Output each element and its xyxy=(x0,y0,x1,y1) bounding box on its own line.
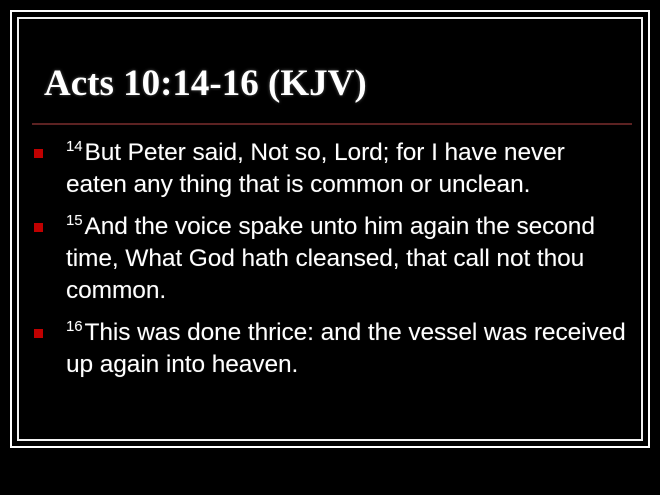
title-divider-rule xyxy=(32,123,632,125)
scripture-bullet-list: 14But Peter said, Not so, Lord; for I ha… xyxy=(32,137,632,391)
verse-number: 16 xyxy=(66,318,85,335)
presentation-slide: Acts 10:14-16 (KJV) 14But Peter said, No… xyxy=(0,0,660,495)
square-bullet-icon xyxy=(34,149,43,158)
list-item: 15And the voice spake unto him again the… xyxy=(32,211,632,307)
verse-number: 14 xyxy=(66,138,85,155)
square-bullet-icon xyxy=(34,329,43,338)
slide-title: Acts 10:14-16 (KJV) xyxy=(44,62,624,106)
verse-number: 15 xyxy=(66,212,85,229)
list-item: 14But Peter said, Not so, Lord; for I ha… xyxy=(32,137,632,201)
square-bullet-icon xyxy=(34,223,43,232)
verse-text: But Peter said, Not so, Lord; for I have… xyxy=(66,139,565,198)
verse-text: And the voice spake unto him again the s… xyxy=(66,213,595,304)
list-item: 16This was done thrice: and the vessel w… xyxy=(32,317,632,381)
verse-text: This was done thrice: and the vessel was… xyxy=(66,319,626,378)
